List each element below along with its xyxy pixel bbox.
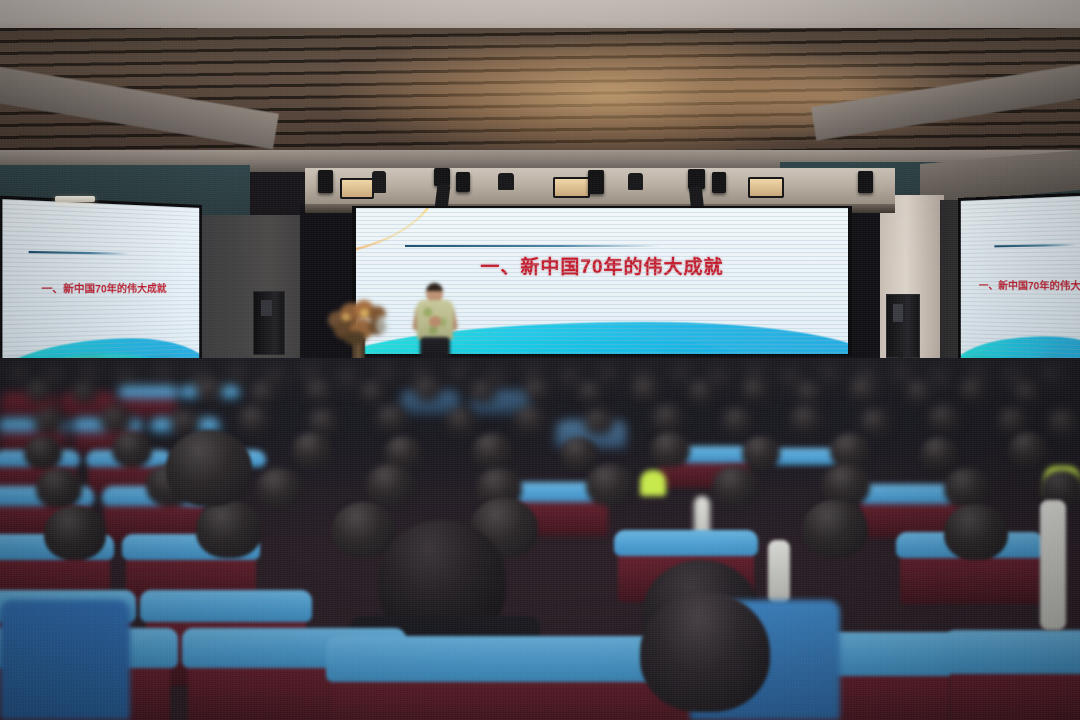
slide-swoosh-right bbox=[961, 194, 1036, 234]
stage-light-icon-14 bbox=[748, 177, 784, 198]
stage-light-icon-9 bbox=[588, 170, 604, 194]
slide-swoosh-left bbox=[2, 199, 95, 240]
audience-blue-shirt-left bbox=[0, 600, 130, 720]
side-screen-left-title: 一、新中国70年的伟大成就 bbox=[2, 280, 199, 297]
slide-main-title: 一、新中国70年的伟大成就 bbox=[356, 252, 848, 279]
screen-left-downlight bbox=[55, 196, 95, 202]
stage-light-icon-13 bbox=[712, 172, 726, 193]
slide-rule-main bbox=[405, 245, 661, 247]
side-screen-right-surface: 一、新中国70年的伟大成就 bbox=[961, 194, 1080, 366]
pa-speaker-left bbox=[253, 291, 285, 355]
stage-light-icon-15 bbox=[858, 171, 873, 193]
slide-rule-left bbox=[28, 251, 129, 255]
auditorium-photo: 一、新中国70年的伟大成就 一、新中国70年的伟大成就 一、新中国7 bbox=[0, 0, 1080, 720]
side-screen-left-surface: 一、新中国70年的伟大成就 bbox=[2, 199, 199, 371]
slide-swoosh-main bbox=[356, 208, 452, 254]
stage-light-icon-7 bbox=[498, 173, 514, 190]
presenter-hands bbox=[429, 316, 441, 327]
stage-light-icon-10 bbox=[628, 173, 643, 190]
foreground-person-bottom-right bbox=[640, 592, 770, 712]
side-screen-left: 一、新中国70年的伟大成就 bbox=[0, 196, 202, 375]
stage-light-icon-3 bbox=[372, 171, 386, 193]
stage-light-icon-6 bbox=[456, 172, 470, 192]
pa-speaker-right bbox=[886, 294, 920, 358]
slide-rule-right bbox=[994, 243, 1077, 247]
stage-light-icon-1 bbox=[318, 170, 333, 193]
presenter bbox=[412, 283, 458, 365]
stage-light-icon-2 bbox=[340, 178, 374, 199]
side-screen-right-title: 一、新中国70年的伟大成就 bbox=[979, 277, 1080, 293]
stage-light-icon-8 bbox=[553, 177, 590, 198]
side-screen-right: 一、新中国70年的伟大成就 bbox=[958, 191, 1080, 370]
flower-arrangement bbox=[324, 297, 396, 347]
